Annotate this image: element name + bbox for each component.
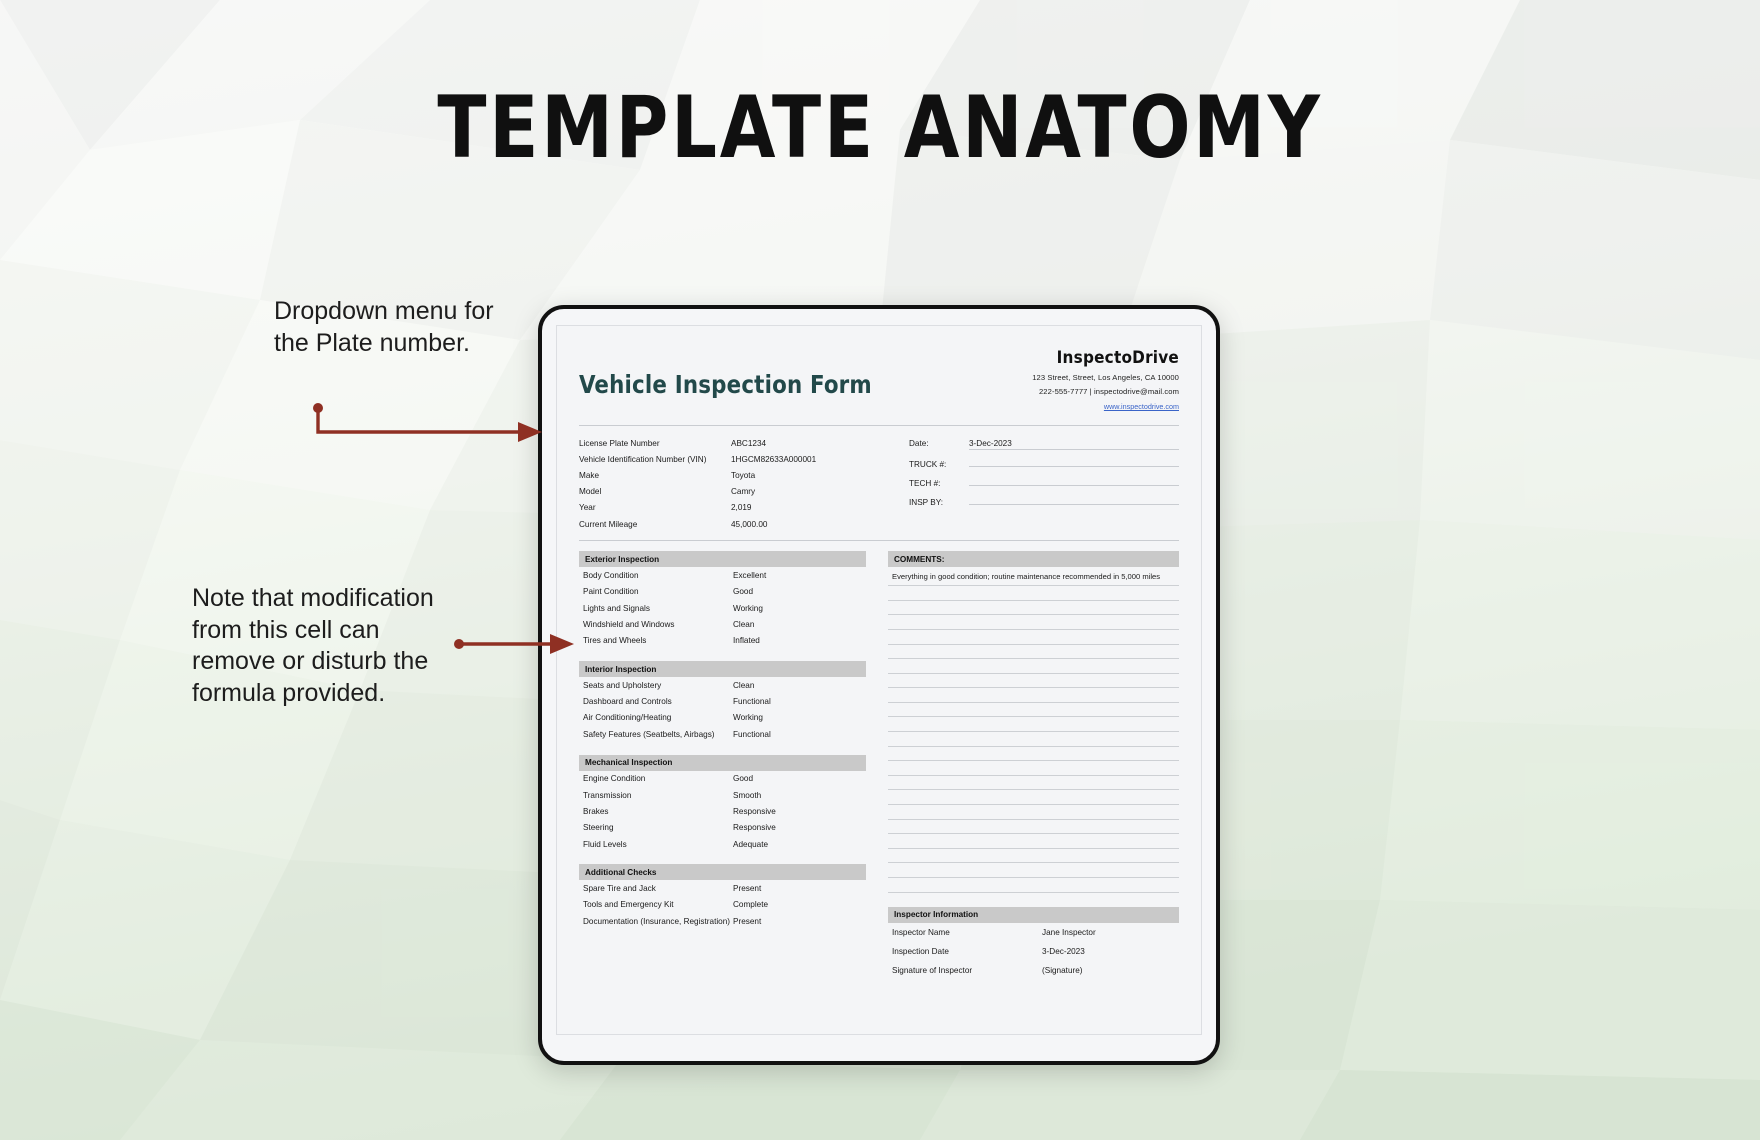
row-value: Clean	[733, 681, 860, 690]
table-row: Windshield and WindowsClean	[579, 616, 866, 632]
row-value: Good	[733, 774, 860, 783]
row-value: 45,000.00	[731, 520, 873, 529]
table-row: TransmissionSmooth	[579, 787, 866, 803]
comment-line[interactable]	[888, 878, 1179, 893]
row-value: Inflated	[733, 636, 860, 645]
table-row: Vehicle Identification Number (VIN) 1HGC…	[579, 451, 873, 467]
table-row: Documentation (Insurance, Registration)P…	[579, 913, 866, 929]
document-header: Vehicle Inspection Form InspectoDrive 12…	[579, 344, 1179, 425]
annotation-formula-cell: Note that modification from this cell ca…	[192, 583, 462, 709]
row-value: Excellent	[733, 571, 860, 580]
row-value: Jane Inspector	[1042, 928, 1096, 937]
comment-line[interactable]	[888, 674, 1179, 689]
table-row: Inspection Date3-Dec-2023	[888, 942, 1179, 961]
row-label: Signature of Inspector	[892, 966, 1042, 975]
comment-line[interactable]	[888, 863, 1179, 878]
row-value: Responsive	[733, 823, 860, 832]
row-label: TECH #:	[909, 479, 969, 488]
vehicle-info-column: License Plate Number ABC1234 Vehicle Ide…	[579, 435, 873, 532]
table-row: Seats and UpholsteryClean	[579, 677, 866, 693]
row-value: (Signature)	[1042, 966, 1083, 975]
row-label: TRUCK #:	[909, 460, 969, 469]
row-label: Safety Features (Seatbelts, Airbags)	[583, 730, 733, 739]
company-address: 123 Street, Street, Los Angeles, CA 1000…	[1032, 373, 1179, 382]
row-value: Present	[733, 917, 860, 926]
table-row: Model Camry	[579, 484, 873, 500]
comment-line[interactable]	[888, 776, 1179, 791]
comment-line[interactable]	[888, 630, 1179, 645]
table-row: Make Toyota	[579, 467, 873, 483]
row-label: Paint Condition	[583, 587, 733, 596]
company-contact: 222-555-7777 | inspectodrive@mail.com	[1032, 387, 1179, 396]
row-label: INSP BY:	[909, 498, 969, 507]
annotation-plate-dropdown: Dropdown menu for the Plate number.	[274, 296, 534, 359]
row-label: Tires and Wheels	[583, 636, 733, 645]
row-label: Lights and Signals	[583, 604, 733, 613]
table-row[interactable]: License Plate Number ABC1234	[579, 435, 873, 451]
row-label: Documentation (Insurance, Registration)	[583, 917, 733, 926]
row-value: Toyota	[731, 471, 873, 480]
table-row: Inspector NameJane Inspector	[888, 923, 1179, 942]
row-label: Dashboard and Controls	[583, 697, 733, 706]
row-label: Windshield and Windows	[583, 620, 733, 629]
row-label: Current Mileage	[579, 520, 731, 529]
comment-blank-lines[interactable]	[888, 586, 1179, 892]
tablet-device-frame: Vehicle Inspection Form InspectoDrive 12…	[538, 305, 1220, 1065]
section-header-exterior: Exterior Inspection	[579, 551, 866, 567]
row-value: Camry	[731, 487, 873, 496]
row-value: Functional	[733, 697, 860, 706]
row-value: Adequate	[733, 840, 860, 849]
comment-line[interactable]	[888, 659, 1179, 674]
row-label: Brakes	[583, 807, 733, 816]
row-label: License Plate Number	[579, 439, 731, 448]
comment-line[interactable]	[888, 747, 1179, 762]
document-title: Vehicle Inspection Form	[579, 370, 872, 399]
info-block: License Plate Number ABC1234 Vehicle Ide…	[579, 426, 1179, 540]
comment-line[interactable]	[888, 834, 1179, 849]
row-label: Steering	[583, 823, 733, 832]
inspection-sections-column: Exterior Inspection Body ConditionExcell…	[579, 551, 866, 979]
row-label: Air Conditioning/Heating	[583, 713, 733, 722]
comment-line[interactable]	[888, 703, 1179, 718]
row-value: 2,019	[731, 503, 873, 512]
row-label: Vehicle Identification Number (VIN)	[579, 455, 731, 464]
section-header-mechanical: Mechanical Inspection	[579, 755, 866, 771]
table-row: Dashboard and ControlsFunctional	[579, 693, 866, 709]
row-value: Responsive	[733, 807, 860, 816]
table-row: Year 2,019	[579, 500, 873, 516]
comment-line[interactable]	[888, 688, 1179, 703]
section-header-comments: COMMENTS:	[888, 551, 1179, 567]
tech-number-field[interactable]	[969, 476, 1179, 486]
table-row: Engine ConditionGood	[579, 771, 866, 787]
table-row: Spare Tire and JackPresent	[579, 880, 866, 896]
section-header-additional: Additional Checks	[579, 864, 866, 880]
table-row: Tires and WheelsInflated	[579, 633, 866, 649]
table-row: SteeringResponsive	[579, 820, 866, 836]
comment-line[interactable]	[888, 820, 1179, 835]
table-row: Date: 3-Dec-2023	[909, 435, 1179, 453]
row-label: Year	[579, 503, 731, 512]
table-row: TECH #:	[909, 472, 1179, 491]
row-value: Working	[733, 713, 860, 722]
company-name: InspectoDrive	[1032, 348, 1179, 368]
section-header-interior: Interior Inspection	[579, 661, 866, 677]
annotation-arrow-2	[452, 632, 582, 656]
row-value: 3-Dec-2023	[1042, 947, 1085, 956]
insp-by-field[interactable]	[969, 495, 1179, 505]
company-website-link[interactable]: www.inspectodrive.com	[1032, 402, 1179, 411]
table-row: Current Mileage 45,000.00	[579, 516, 873, 532]
comment-line[interactable]	[888, 849, 1179, 864]
row-label: Fluid Levels	[583, 840, 733, 849]
comment-line[interactable]	[888, 790, 1179, 805]
row-label: Inspection Date	[892, 947, 1042, 956]
row-label: Seats and Upholstery	[583, 681, 733, 690]
comment-line[interactable]	[888, 717, 1179, 732]
row-value: Smooth	[733, 791, 860, 800]
table-row: BrakesResponsive	[579, 803, 866, 819]
row-label: Transmission	[583, 791, 733, 800]
comment-line[interactable]	[888, 732, 1179, 747]
row-label: Model	[579, 487, 731, 496]
comment-line[interactable]	[888, 615, 1179, 630]
table-row: TRUCK #:	[909, 453, 1179, 472]
vehicle-inspection-document: Vehicle Inspection Form InspectoDrive 12…	[557, 326, 1201, 990]
comment-line[interactable]	[888, 586, 1179, 601]
document-screen: Vehicle Inspection Form InspectoDrive 12…	[556, 325, 1202, 1035]
row-value: Good	[733, 587, 860, 596]
table-row: Signature of Inspector(Signature)	[888, 961, 1179, 980]
table-row: Paint ConditionGood	[579, 584, 866, 600]
table-row: Fluid LevelsAdequate	[579, 836, 866, 852]
row-value: Present	[733, 884, 860, 893]
table-row: Body ConditionExcellent	[579, 567, 866, 583]
row-value: Working	[733, 604, 860, 613]
comment-line[interactable]	[888, 601, 1179, 616]
date-field[interactable]: 3-Dec-2023	[969, 439, 1179, 450]
row-value: Complete	[733, 900, 860, 909]
row-value: Clean	[733, 620, 860, 629]
inspector-information-block: Inspector Information Inspector NameJane…	[888, 907, 1179, 980]
row-label: Body Condition	[583, 571, 733, 580]
row-label: Inspector Name	[892, 928, 1042, 937]
body-columns: Exterior Inspection Body ConditionExcell…	[579, 541, 1179, 979]
annotation-arrow-1	[310, 400, 550, 446]
comment-line[interactable]	[888, 805, 1179, 820]
table-row: Lights and SignalsWorking	[579, 600, 866, 616]
page-title: TEMPLATE ANATOMY	[62, 78, 1699, 178]
row-value: Functional	[733, 730, 860, 739]
section-header-inspector: Inspector Information	[888, 907, 1179, 923]
meta-info-column: Date: 3-Dec-2023 TRUCK #: TECH #: INSP B…	[909, 435, 1179, 532]
table-row: Air Conditioning/HeatingWorking	[579, 710, 866, 726]
table-row: INSP BY:	[909, 492, 1179, 511]
comment-line[interactable]	[888, 761, 1179, 776]
row-label: Tools and Emergency Kit	[583, 900, 733, 909]
row-label: Spare Tire and Jack	[583, 884, 733, 893]
row-label: Make	[579, 471, 731, 480]
plate-number-value[interactable]: ABC1234	[731, 439, 873, 448]
row-label: Engine Condition	[583, 774, 733, 783]
row-value: 1HGCM82633A000001	[731, 455, 873, 464]
comment-line[interactable]	[888, 645, 1179, 660]
row-label: Date:	[909, 439, 969, 448]
truck-number-field[interactable]	[969, 457, 1179, 467]
company-branding: InspectoDrive 123 Street, Street, Los An…	[1032, 344, 1179, 411]
table-row: Tools and Emergency KitComplete	[579, 897, 866, 913]
table-row: Safety Features (Seatbelts, Airbags)Func…	[579, 726, 866, 742]
comments-column: COMMENTS: Everything in good condition; …	[888, 551, 1179, 979]
comment-text[interactable]: Everything in good condition; routine ma…	[888, 567, 1179, 586]
